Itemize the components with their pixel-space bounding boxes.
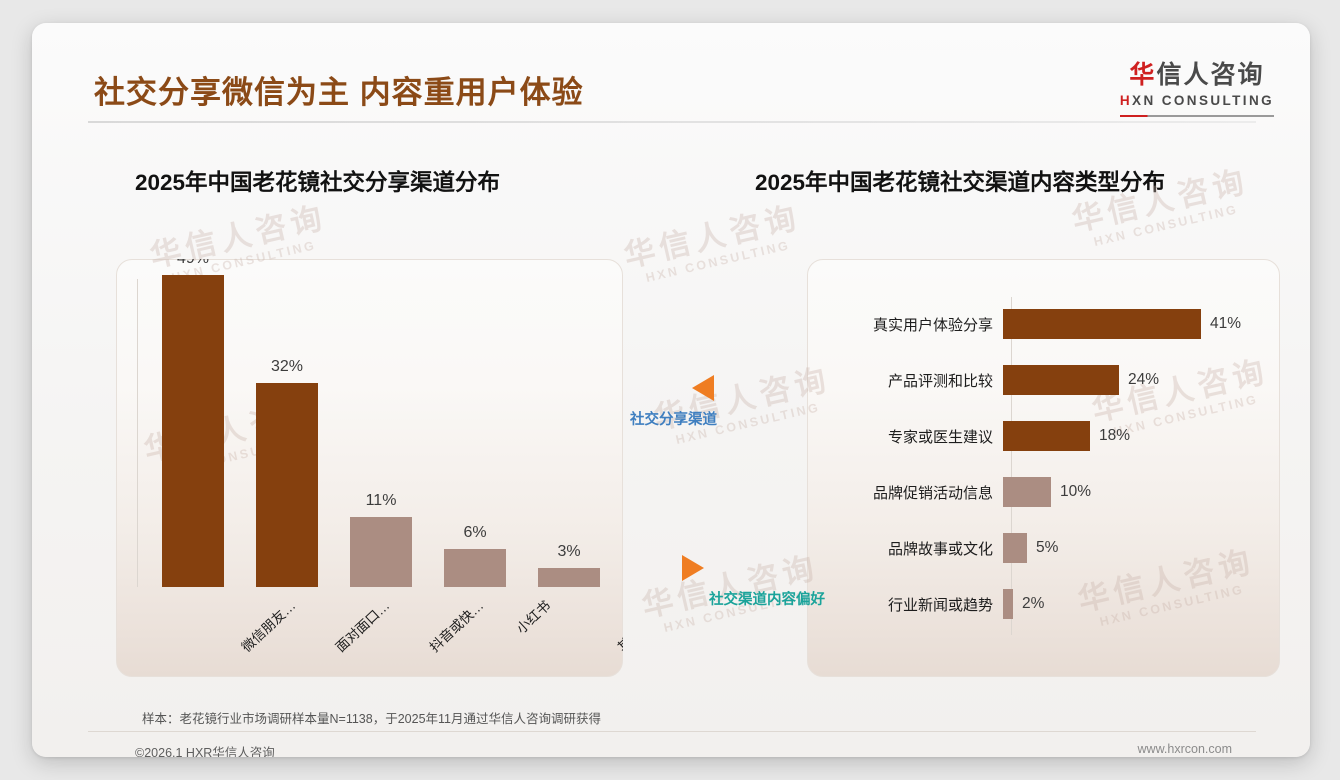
logo-accent-char: 华 <box>1129 61 1156 89</box>
column-value-label: 32% <box>271 358 303 376</box>
column-bar <box>538 568 600 587</box>
column-bar <box>256 383 318 587</box>
bar-category-label: 行业新闻或趋势 <box>807 594 1003 615</box>
column-bar-group: 49% <box>162 259 224 587</box>
website-url: www.hxrcon.com <box>1138 742 1232 756</box>
logo-english: HXN CONSULTING <box>1120 94 1274 108</box>
watermark: 华信人咨询 HXN CONSULTING <box>621 199 808 288</box>
triangle-right-icon <box>682 555 704 581</box>
watermark-cn: 华信人咨询 <box>621 199 804 274</box>
logo-en-accent: H <box>1120 93 1132 108</box>
column-bar-group: 32% <box>256 358 318 587</box>
watermark-en: HXN CONSULTING <box>1077 198 1256 252</box>
bar-value-label: 5% <box>1036 539 1058 557</box>
slide: 社交分享微信为主 内容重用户体验 华信人咨询 HXN CONSULTING 20… <box>32 23 1310 757</box>
bar-category-label: 真实用户体验分享 <box>807 314 1003 335</box>
bar-value-label: 2% <box>1022 595 1044 613</box>
bar-category-label: 产品评测和比较 <box>807 370 1003 391</box>
left-chart-title: 2025年中国老花镜社交分享渠道分布 <box>135 165 500 197</box>
bar-row: 品牌促销活动信息10% <box>807 475 1280 509</box>
page-title: 社交分享微信为主 内容重用户体验 <box>94 67 584 112</box>
column-category-label: 抖音或快… <box>424 595 487 656</box>
bar-category-label: 专家或医生建议 <box>807 426 1003 447</box>
bar-value-label: 10% <box>1060 483 1091 501</box>
bar-value-label: 24% <box>1128 371 1159 389</box>
column-bar-group: 3% <box>538 543 600 587</box>
column-value-label: 3% <box>557 543 580 561</box>
logo-underline <box>1120 115 1274 117</box>
column-bar <box>350 517 412 587</box>
right-chart-title: 2025年中国老花镜社交渠道内容类型分布 <box>755 165 1165 197</box>
watermark-en: HXN CONSULTING <box>629 234 808 288</box>
horizontal-bar <box>1003 477 1051 507</box>
horizontal-bar <box>1003 309 1201 339</box>
horizontal-bar <box>1003 365 1119 395</box>
bar-category-label: 品牌故事或文化 <box>807 538 1003 559</box>
footer-divider <box>88 731 1256 732</box>
column-category-label: 面对面口… <box>330 595 393 656</box>
bar-category-label: 品牌促销活动信息 <box>807 482 1003 503</box>
bar-row: 专家或医生建议18% <box>807 419 1280 453</box>
logo-en-rest: XN CONSULTING <box>1132 93 1274 108</box>
bar-chart-axis <box>1011 297 1012 635</box>
sample-note: 样本：老花镜行业市场调研样本量N=1138，于2025年11月通过华信人咨询调研… <box>142 708 601 727</box>
column-bar <box>444 549 506 587</box>
horizontal-bar <box>1003 533 1027 563</box>
content-type-chart: 真实用户体验分享41%产品评测和比较24%专家或医生建议18%品牌促销活动信息1… <box>807 259 1280 677</box>
title-divider <box>88 121 1256 123</box>
column-value-label: 11% <box>366 492 397 510</box>
horizontal-bar <box>1003 589 1013 619</box>
column-category-label: 其他社交… <box>612 595 623 656</box>
column-category-label: 微信朋友… <box>236 595 299 656</box>
column-value-label: 49% <box>177 259 209 268</box>
bar-row: 行业新闻或趋势2% <box>807 587 1280 621</box>
logo-chinese-rest: 信人咨询 <box>1156 61 1264 89</box>
column-bar <box>162 275 224 587</box>
watermark-cn: 华信人咨询 <box>639 549 822 624</box>
logo-chinese: 华信人咨询 <box>1120 63 1274 88</box>
bar-row: 品牌故事或文化5% <box>807 531 1280 565</box>
bar-value-label: 41% <box>1210 315 1241 333</box>
column-chart-axis <box>137 279 138 587</box>
horizontal-bar <box>1003 421 1090 451</box>
company-logo: 华信人咨询 HXN CONSULTING <box>1120 63 1274 117</box>
social-share-channel-chart: 49%微信朋友…32%面对面口…11%抖音或快…6%小红书3%其他社交… <box>116 259 623 677</box>
bar-row: 产品评测和比较24% <box>807 363 1280 397</box>
annotation-label: 社交渠道内容偏好 <box>709 588 825 609</box>
column-bar-group: 6% <box>444 524 506 587</box>
column-value-label: 6% <box>463 524 486 542</box>
column-bar-group: 11% <box>350 492 412 587</box>
bar-value-label: 18% <box>1099 427 1130 445</box>
annotation-label: 社交分享渠道 <box>630 408 717 429</box>
column-category-label: 小红书 <box>511 595 554 637</box>
bar-row: 真实用户体验分享41% <box>807 307 1280 341</box>
triangle-left-icon <box>692 375 714 401</box>
copyright-text: ©2026.1 HXR华信人咨询 <box>135 742 275 757</box>
